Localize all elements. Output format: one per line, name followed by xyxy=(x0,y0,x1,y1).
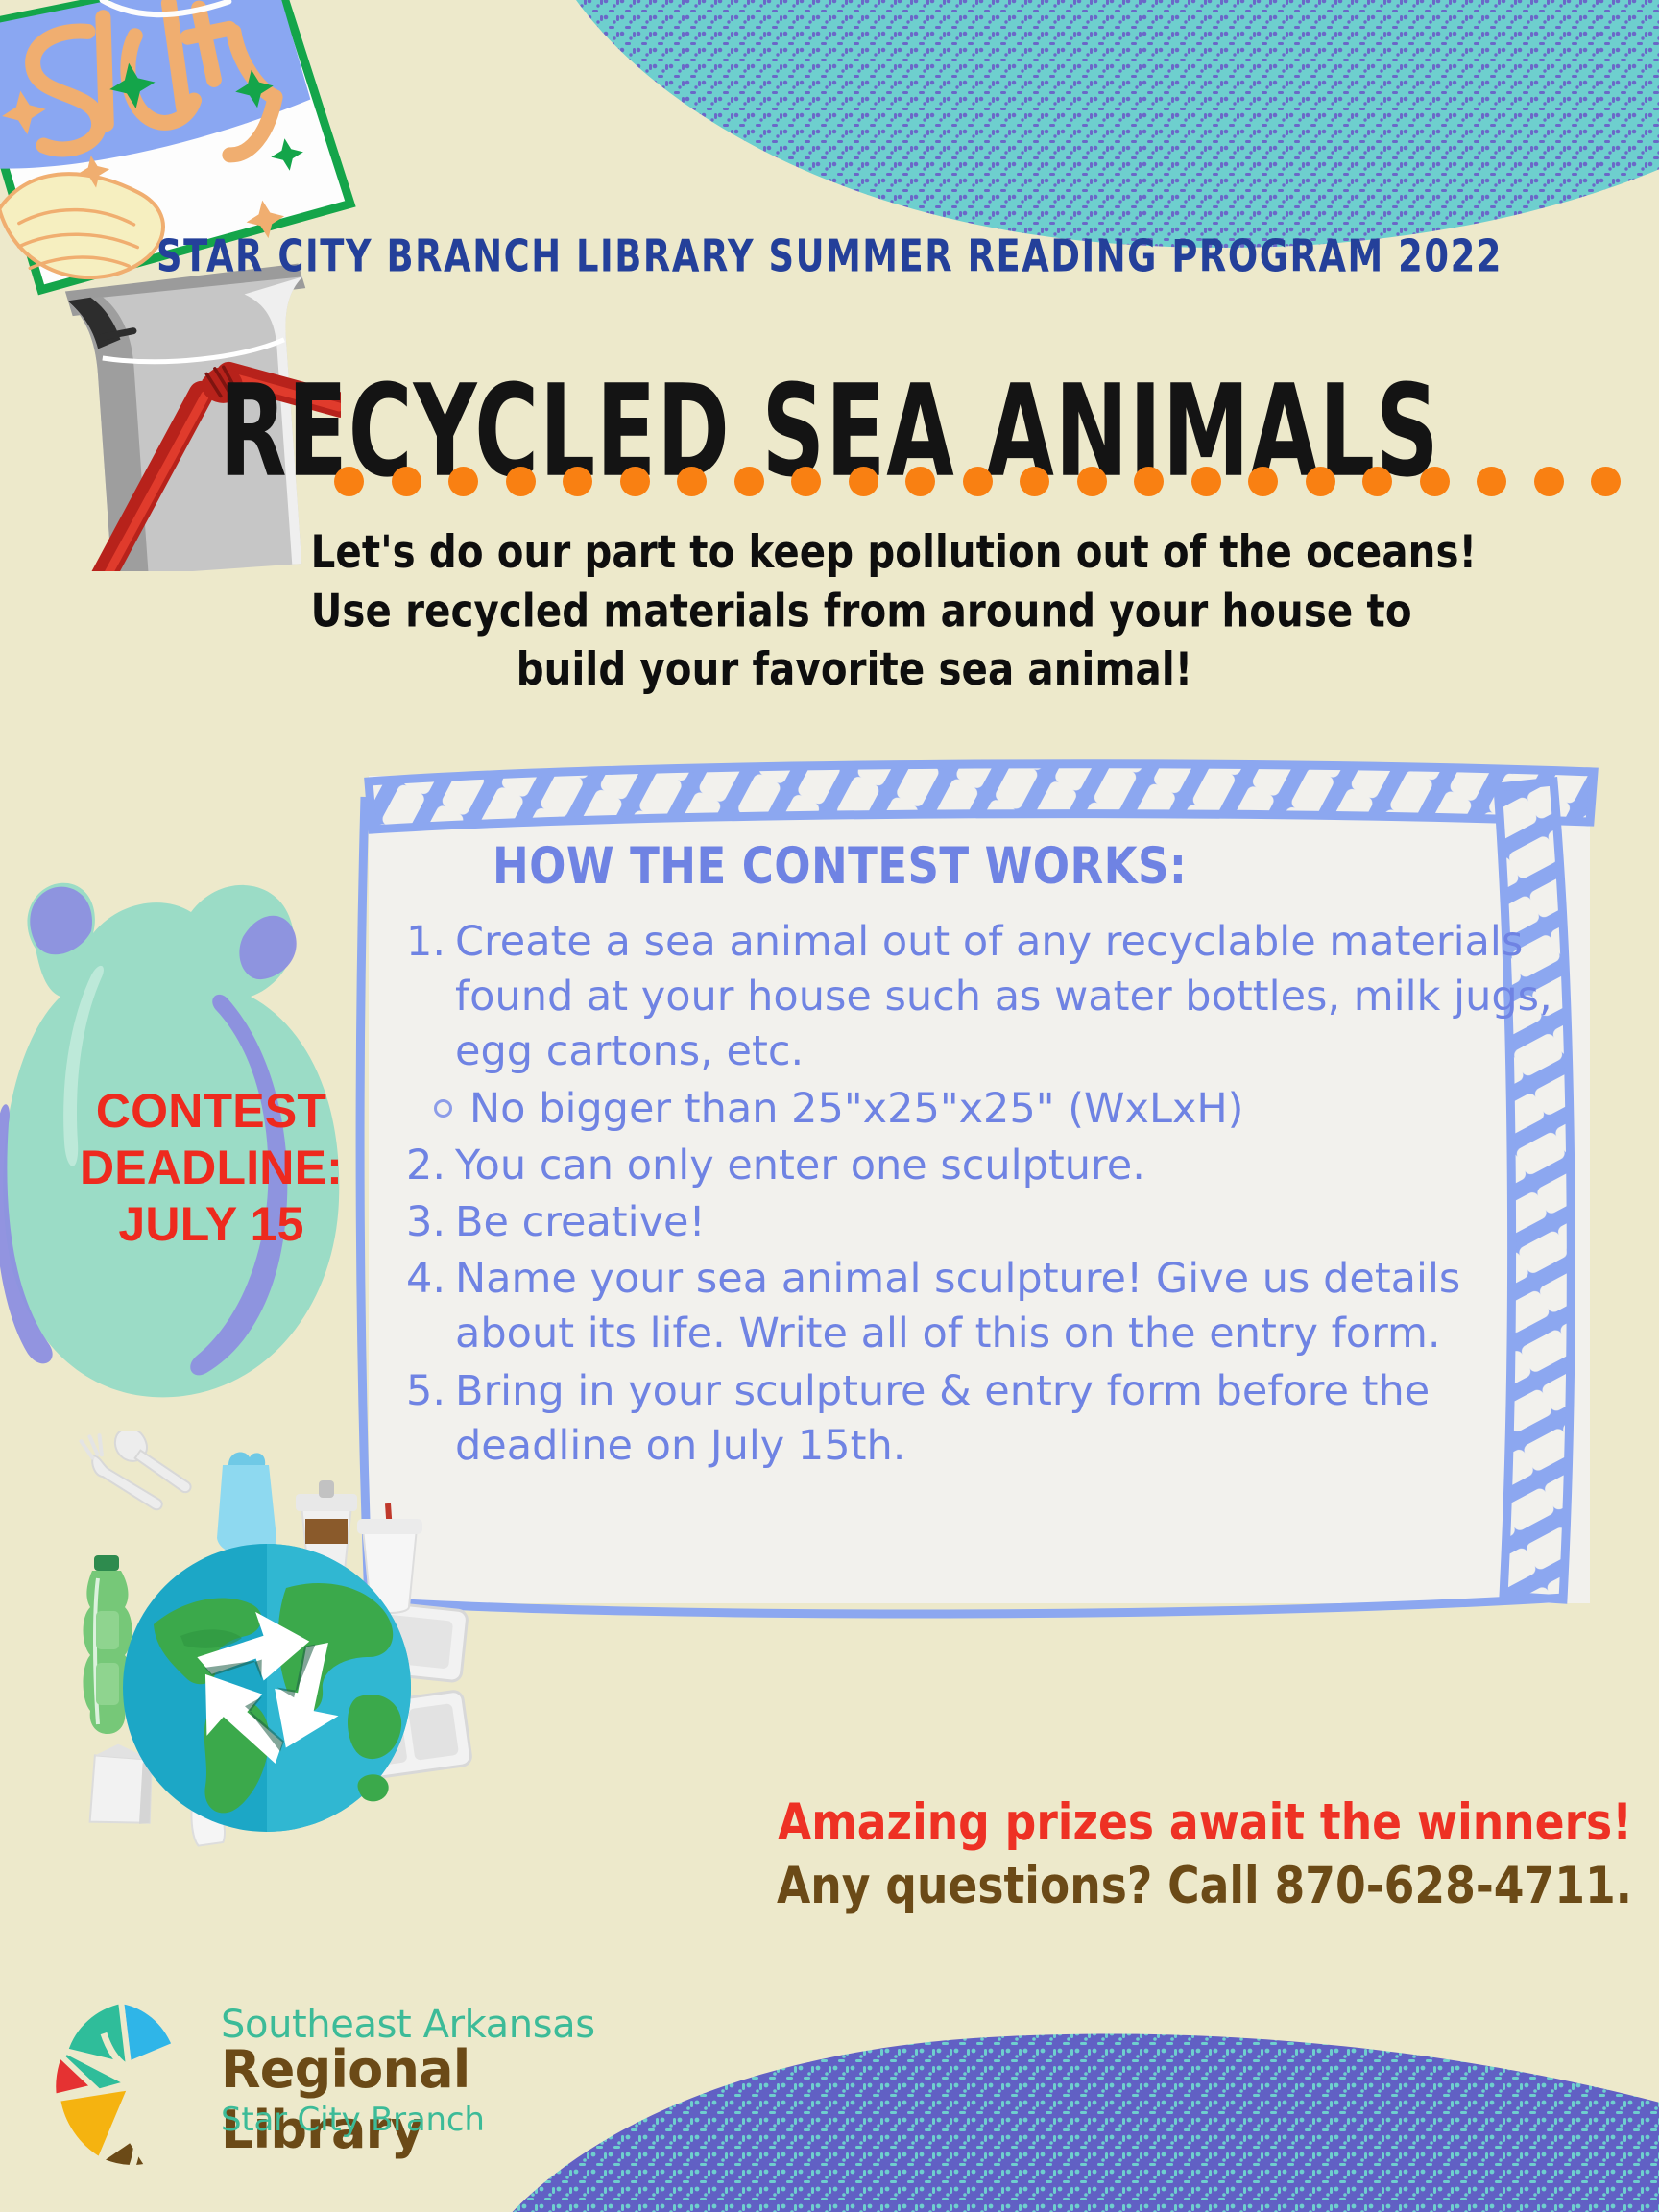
logo-tree-mark-icon xyxy=(46,1995,200,2177)
poster-canvas: STAR CITY BRANCH LIBRARY SUMMER READING … xyxy=(0,0,1659,2212)
orange-dot-icon xyxy=(506,467,536,496)
orange-dot-icon xyxy=(620,467,650,496)
prize-line: Amazing prizes await the winners! xyxy=(720,1795,1632,1852)
earth-recycle-globe-icon xyxy=(123,1544,411,1832)
orange-dot-icon xyxy=(963,467,993,496)
rule-text: Bring in your sculpture & entry form bef… xyxy=(455,1364,1573,1474)
recycling-illustration-cluster xyxy=(67,1431,614,1853)
orange-dot-icon xyxy=(448,467,478,496)
orange-dot-icon xyxy=(1534,467,1564,496)
rule-text: Create a sea animal out of any recyclabl… xyxy=(455,915,1573,1080)
intro-line-3: build your favorite sea animal! xyxy=(311,640,1399,699)
intro-line-1: Let's do our part to keep pollution out … xyxy=(311,523,1399,582)
plastic-utensils-icon xyxy=(81,1431,195,1526)
orange-dot-icon xyxy=(1077,467,1107,496)
orange-dot-icon xyxy=(791,467,821,496)
orange-dot-icon xyxy=(1020,467,1049,496)
orange-dot-icon xyxy=(734,467,764,496)
orange-dot-icon xyxy=(1362,467,1392,496)
list-item: 3. Be creative! xyxy=(401,1195,1573,1250)
logo-line-2: Regional Library xyxy=(221,2039,641,2160)
orange-dot-icon xyxy=(1477,467,1506,496)
contest-deadline: CONTEST DEADLINE: JULY 15 xyxy=(19,1083,403,1253)
orange-dot-icon xyxy=(392,467,421,496)
orange-dot-icon xyxy=(1591,467,1621,496)
program-kicker: STAR CITY BRANCH LIBRARY SUMMER READING … xyxy=(25,230,1634,282)
rule-text: Name your sea animal sculpture! Give us … xyxy=(455,1252,1573,1361)
deadline-line-3: JULY 15 xyxy=(19,1196,403,1253)
list-item: 5. Bring in your sculpture & entry form … xyxy=(401,1364,1573,1474)
rule-text: You can only enter one sculpture. xyxy=(455,1139,1573,1193)
hollow-circle-bullet-icon xyxy=(434,1099,452,1118)
questions-line: Any questions? Call 870-628-4711. xyxy=(720,1857,1632,1917)
orange-dot-icon xyxy=(905,467,935,496)
orange-dot-icon xyxy=(1420,467,1450,496)
contest-rules-list: 1. Create a sea animal out of any recycl… xyxy=(401,915,1573,1474)
orange-dot-icon xyxy=(849,467,878,496)
contest-subrules-list: No bigger than 25"x25"x25" (WxLxH) xyxy=(401,1082,1573,1137)
subrule-text: No bigger than 25"x25"x25" (WxLxH) xyxy=(469,1082,1243,1137)
deadline-line-1: CONTEST xyxy=(19,1083,403,1140)
rule-number: 1. xyxy=(401,915,445,970)
prize-block: Amazing prizes await the winners! Any qu… xyxy=(720,1795,1632,1917)
orange-dot-icon xyxy=(1134,467,1164,496)
rule-number: 4. xyxy=(401,1252,445,1307)
orange-dot-icon xyxy=(677,467,707,496)
list-item: 1. Create a sea animal out of any recycl… xyxy=(401,915,1573,1080)
orange-dot-icon xyxy=(563,467,592,496)
contest-content: HOW THE CONTEST WORKS: 1. Create a sea a… xyxy=(401,837,1573,1476)
list-item: 2. You can only enter one sculpture. xyxy=(401,1139,1573,1193)
orange-dot-icon xyxy=(1191,467,1221,496)
logo-line-3: Star City Branch xyxy=(221,2101,485,2139)
small-plastic-bag-icon xyxy=(217,1452,276,1555)
rule-number: 2. xyxy=(401,1139,445,1193)
intro-line-2: Use recycled materials from around your … xyxy=(311,582,1399,640)
orange-dot-icon xyxy=(1306,467,1335,496)
rule-number: 5. xyxy=(401,1364,445,1419)
list-item: 4. Name your sea animal sculpture! Give … xyxy=(401,1252,1573,1361)
dot-divider xyxy=(334,465,1621,497)
list-item: No bigger than 25"x25"x25" (WxLxH) xyxy=(401,1082,1573,1137)
library-logo: Southeast Arkansas Regional Library Star… xyxy=(46,1995,641,2182)
orange-dot-icon xyxy=(334,467,364,496)
contest-heading: HOW THE CONTEST WORKS: xyxy=(493,837,1529,897)
deadline-line-2: DEADLINE: xyxy=(19,1140,403,1196)
intro-copy: Let's do our part to keep pollution out … xyxy=(311,523,1399,699)
rule-number: 3. xyxy=(401,1195,445,1250)
rule-text: Be creative! xyxy=(455,1195,1573,1250)
orange-dot-icon xyxy=(1248,467,1278,496)
